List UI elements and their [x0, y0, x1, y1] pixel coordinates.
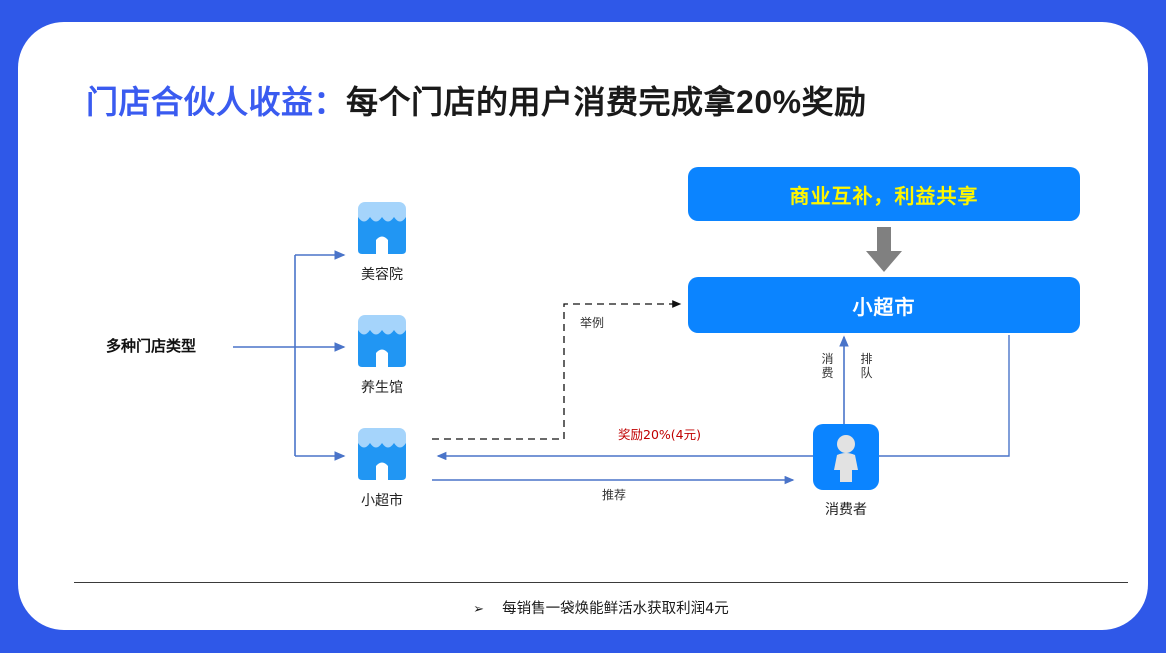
store-node-wellness[interactable]: 养生馆 — [334, 313, 430, 397]
store-label: 美容院 — [334, 264, 430, 284]
minimart-box[interactable]: 小超市 — [688, 277, 1080, 333]
slide-card: 门店合伙人收益：每个门店的用户消费完成拿20%奖励 — [18, 22, 1148, 630]
bullet-icon: ➢ — [473, 602, 484, 617]
store-node-beauty[interactable]: 美容院 — [334, 200, 430, 284]
wire-label-recommend: 推荐 — [602, 486, 626, 503]
store-label: 养生馆 — [334, 377, 430, 397]
footer-divider — [74, 582, 1128, 583]
storefront-icon — [353, 200, 411, 256]
consumer-label: 消费者 — [801, 499, 891, 519]
storefront-icon — [353, 426, 411, 482]
wire-label-example: 举例 — [580, 314, 604, 331]
footer-note: ➢每销售一袋焕能鲜活水获取利润4元 — [18, 597, 1166, 618]
storefront-icon — [353, 313, 411, 369]
slogan-box[interactable]: 商业互补，利益共享 — [688, 167, 1080, 221]
store-label: 小超市 — [334, 490, 430, 510]
store-node-minimart[interactable]: 小超市 — [334, 426, 430, 510]
wire-label-reward: 奖励20%(4元) — [618, 424, 701, 443]
person-icon — [813, 424, 879, 490]
page-title-rest: 每个门店的用户消费完成拿20%奖励 — [346, 84, 867, 120]
page-title: 门店合伙人收益：每个门店的用户消费完成拿20%奖励 — [86, 80, 867, 124]
consumer-node[interactable]: 消费者 — [801, 424, 891, 519]
down-arrow-icon — [864, 227, 904, 273]
wire-label-queue: 排队 — [860, 352, 873, 380]
slide-root: 门店合伙人收益：每个门店的用户消费完成拿20%奖励 — [0, 0, 1166, 653]
footer-text: 每销售一袋焕能鲜活水获取利润4元 — [502, 601, 729, 617]
page-title-highlight: 门店合伙人收益： — [86, 84, 346, 120]
wire-label-consume: 消费 — [821, 352, 834, 380]
store-types-label: 多种门店类型 — [106, 335, 196, 356]
